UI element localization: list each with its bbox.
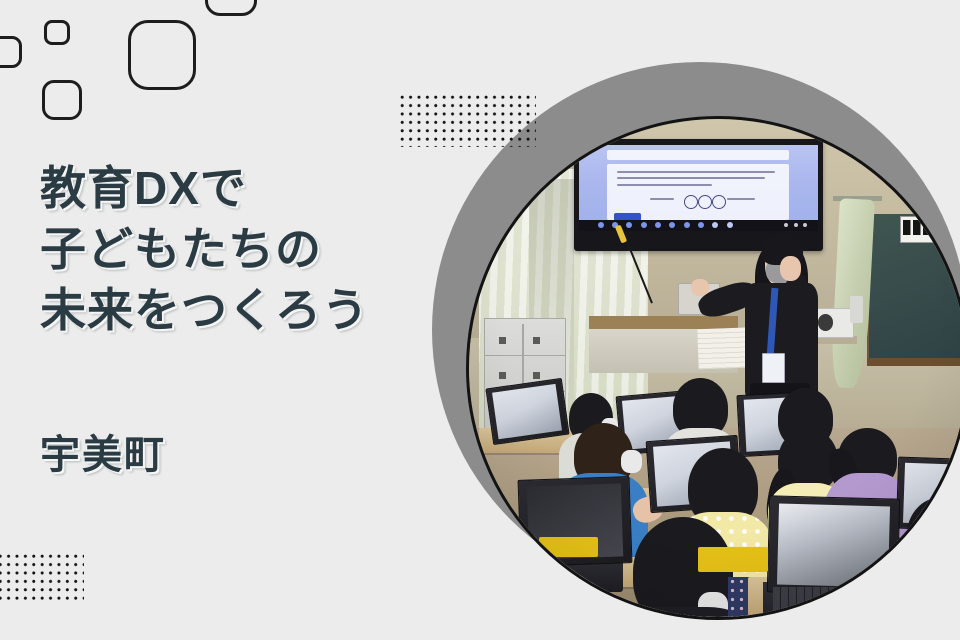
dot-grid-bottom-left: [0, 552, 84, 602]
teacher-right-hand: [780, 256, 801, 281]
rounded-square-large: [128, 20, 196, 90]
desk-tray-yellow: [698, 547, 768, 572]
wall-display-taskbar: [579, 220, 818, 231]
laptop-front-right: [767, 496, 901, 596]
student-mask-far-right: [937, 527, 960, 554]
wall-display-screen: [579, 145, 818, 231]
teacher-left-hand: [691, 279, 709, 296]
front-counter-top: [589, 316, 738, 329]
desk-tray-yellow-2: [539, 537, 599, 557]
rounded-square-top-cut: [205, 0, 257, 16]
student-hand-front-left: [504, 532, 539, 562]
radio-speaker: [818, 314, 833, 330]
banner-canvas: THE CHERRYONTHE CAKE: [0, 0, 960, 640]
chalkboard-rail: [867, 358, 960, 366]
classroom-photo-circle: THE CHERRYONTHE CAKE: [466, 116, 960, 620]
rounded-square-medium: [42, 80, 82, 120]
student-body-front-center: [623, 607, 743, 617]
page-title: 教育DXで 子どもたちの 未来をつくろう: [40, 158, 369, 342]
classroom-photo-scene: THE CHERRYONTHE CAKE: [469, 119, 960, 617]
laptop-keyboard-front-right: [773, 587, 893, 617]
teacher-id-badge: [762, 353, 785, 383]
digital-clock: [900, 216, 934, 243]
laptop-far-left: [485, 378, 569, 445]
student-mask-blue-shirt: [621, 450, 642, 473]
thermos-bottle: [850, 296, 863, 323]
subtitle-town-name: 宇美町: [40, 422, 166, 480]
rounded-square-tiny: [44, 20, 70, 45]
rounded-square-small-left-edge: [0, 36, 22, 68]
